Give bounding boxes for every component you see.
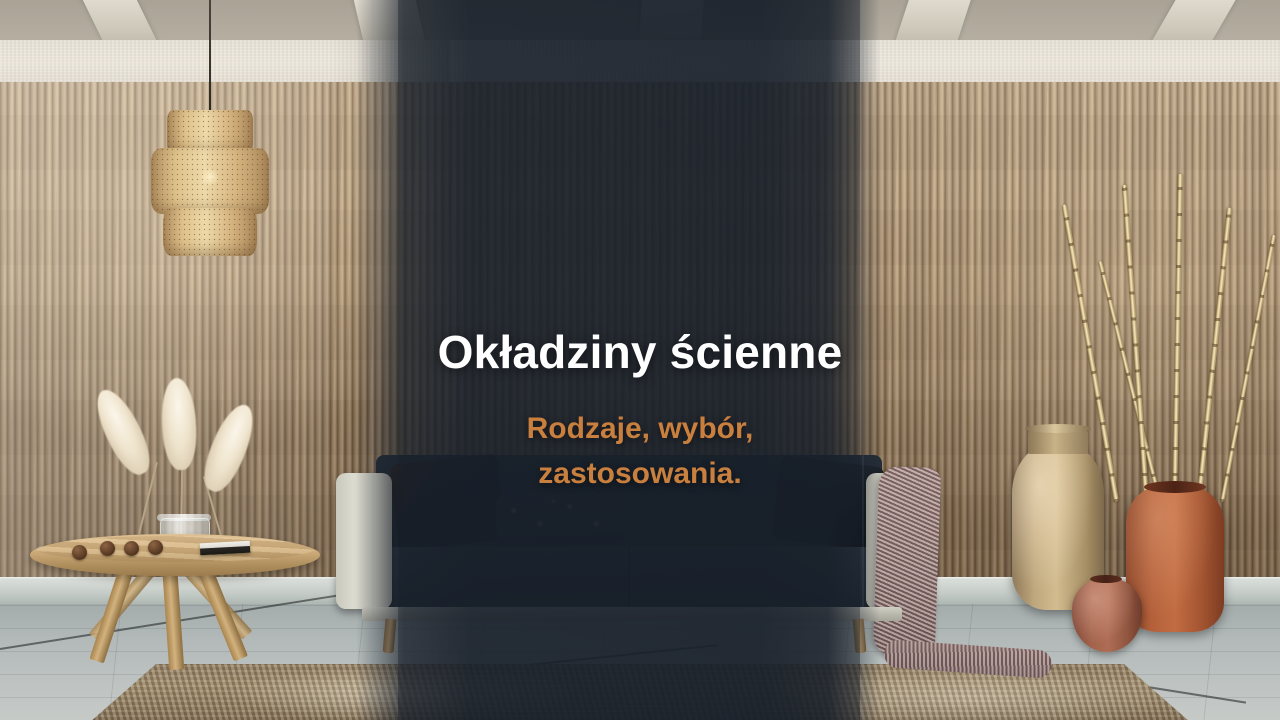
page-subtitle: Rodzaje, wybór, zastosowania. — [475, 406, 805, 497]
hero-scene: Okładziny ścienne Rodzaje, wybór, zastos… — [0, 0, 1280, 720]
hero-text-block: Okładziny ścienne Rodzaje, wybór, zastos… — [0, 0, 1280, 720]
page-title: Okładziny ścienne — [438, 328, 843, 378]
